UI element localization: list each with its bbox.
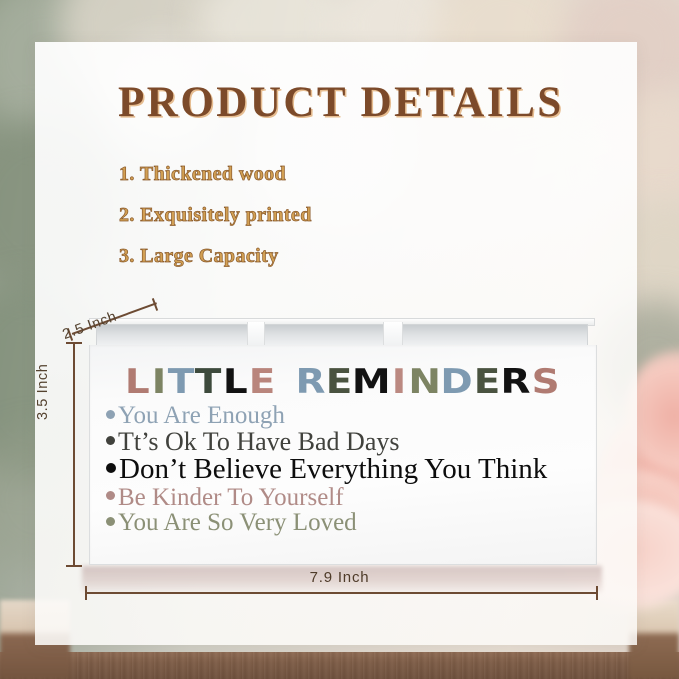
quote-text: You Are So Very Loved xyxy=(118,509,357,536)
headline-letter: M xyxy=(352,365,393,399)
quote-item: Don’t Believe Everything You Think xyxy=(106,455,578,485)
headline-letter: E xyxy=(326,365,355,399)
height-dimension-label: 3.5 Inch xyxy=(35,364,51,420)
headline-letter: T xyxy=(168,365,197,399)
artwork-quote-list: You Are Enough Tt’s Ok To Have Bad Days … xyxy=(106,403,578,536)
quote-item: You Are Enough xyxy=(106,403,578,429)
width-dimension-label: 7.9 Inch xyxy=(0,569,679,586)
headline-letter: I xyxy=(392,365,409,399)
bullet-dot xyxy=(106,463,116,473)
quote-item: You Are So Very Loved xyxy=(106,510,578,536)
width-dimension-line xyxy=(86,592,598,594)
quote-text: You Are Enough xyxy=(118,402,285,429)
bullet-dot xyxy=(106,410,115,419)
headline-letter: E xyxy=(249,365,278,399)
headline-letter: R xyxy=(295,365,327,399)
product-detail-image: PRODUCT DETAILS 1. Thickened wood 2. Exq… xyxy=(0,0,679,679)
headline-letter-space xyxy=(277,365,296,399)
headline-letter: D xyxy=(441,365,476,399)
headline-letter: E xyxy=(473,365,502,399)
headline-letter: T xyxy=(195,365,224,399)
quote-item: Tt’s Ok To Have Bad Days xyxy=(106,429,578,456)
height-dimension-cap xyxy=(66,342,82,344)
height-dimension-line xyxy=(73,342,75,566)
quote-item: Be Kinder To Yourself xyxy=(106,485,578,511)
bullet-dot xyxy=(106,517,115,526)
quote-text: Tt’s Ok To Have Bad Days xyxy=(118,427,400,456)
bullet-dot xyxy=(106,436,115,445)
quote-text: Don’t Believe Everything You Think xyxy=(119,453,547,485)
quote-text: Be Kinder To Yourself xyxy=(118,484,344,511)
headline-letter: R xyxy=(501,365,533,399)
height-dimension-cap xyxy=(66,565,82,567)
headline-letter: I xyxy=(151,365,168,399)
headline-letter: L xyxy=(223,365,250,399)
headline-letter: L xyxy=(125,365,152,399)
artwork-headline: LITTLE REMINDERS xyxy=(110,365,576,398)
bullet-dot xyxy=(106,491,115,500)
width-dimension-cap xyxy=(85,586,87,600)
box-artwork: LITTLE REMINDERS You Are Enough Tt’s Ok … xyxy=(89,345,595,564)
box-top-rim xyxy=(89,318,595,348)
headline-letter: N xyxy=(408,365,443,399)
headline-letter: S xyxy=(531,365,561,399)
width-dimension-cap xyxy=(596,586,598,600)
